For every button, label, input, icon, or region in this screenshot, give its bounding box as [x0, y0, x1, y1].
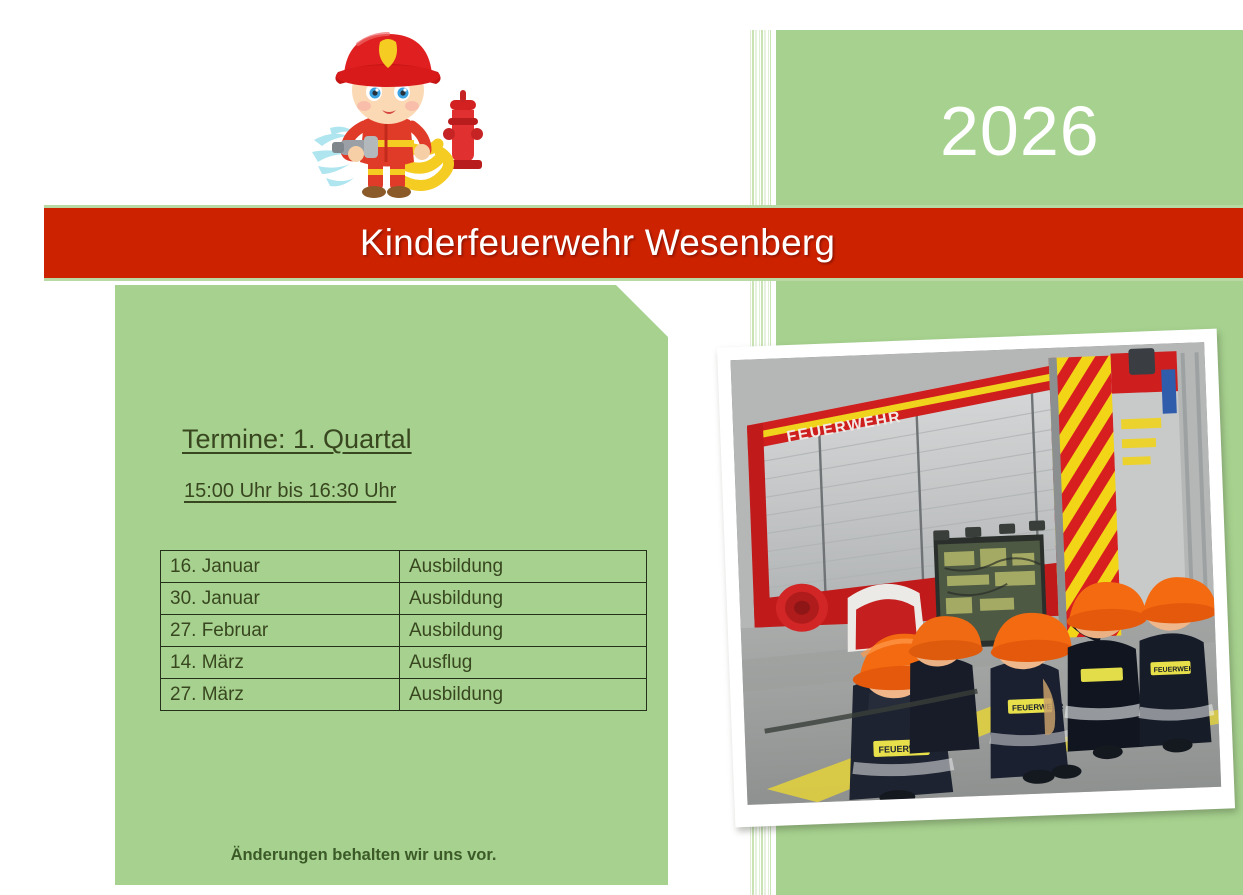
schedule-time-range: 15:00 Uhr bis 16:30 Uhr	[184, 479, 396, 503]
flyer-page: 2026	[0, 0, 1243, 895]
cell-date: 27. März	[161, 679, 400, 711]
table-row: 27. März Ausbildung	[161, 679, 647, 711]
group-photo: FEUERWEHR	[717, 329, 1235, 828]
banner-bottom-edge	[44, 278, 1243, 281]
title-banner: Kinderfeuerwehr Wesenberg	[44, 208, 1243, 278]
table-row: 27. Februar Ausbildung	[161, 615, 647, 647]
cell-date: 27. Februar	[161, 615, 400, 647]
schedule-table-body: 16. Januar Ausbildung 30. Januar Ausbild…	[161, 551, 647, 711]
year-label: 2026	[940, 92, 1170, 170]
table-row: 14. März Ausflug	[161, 647, 647, 679]
cartoon-child-firefighter-icon	[302, 28, 502, 208]
schedule-content-block: Termine: 1. Quartal 15:00 Uhr bis 16:30 …	[115, 285, 668, 885]
banner-title-text: Kinderfeuerwehr Wesenberg	[360, 221, 835, 265]
cell-activity: Ausflug	[400, 647, 647, 679]
table-row: 30. Januar Ausbildung	[161, 583, 647, 615]
schedule-heading: Termine: 1. Quartal	[182, 423, 412, 455]
cell-date: 16. Januar	[161, 551, 400, 583]
cell-date: 30. Januar	[161, 583, 400, 615]
photo-image: FEUERWEHR	[730, 342, 1221, 805]
cell-activity: Ausbildung	[400, 551, 647, 583]
cell-activity: Ausbildung	[400, 583, 647, 615]
schedule-table: 16. Januar Ausbildung 30. Januar Ausbild…	[160, 550, 647, 711]
photo-frame: FEUERWEHR	[717, 329, 1235, 828]
disclaimer-note: Änderungen behalten wir uns vor.	[87, 845, 640, 865]
cell-activity: Ausbildung	[400, 679, 647, 711]
cell-activity: Ausbildung	[400, 615, 647, 647]
table-row: 16. Januar Ausbildung	[161, 551, 647, 583]
cell-date: 14. März	[161, 647, 400, 679]
